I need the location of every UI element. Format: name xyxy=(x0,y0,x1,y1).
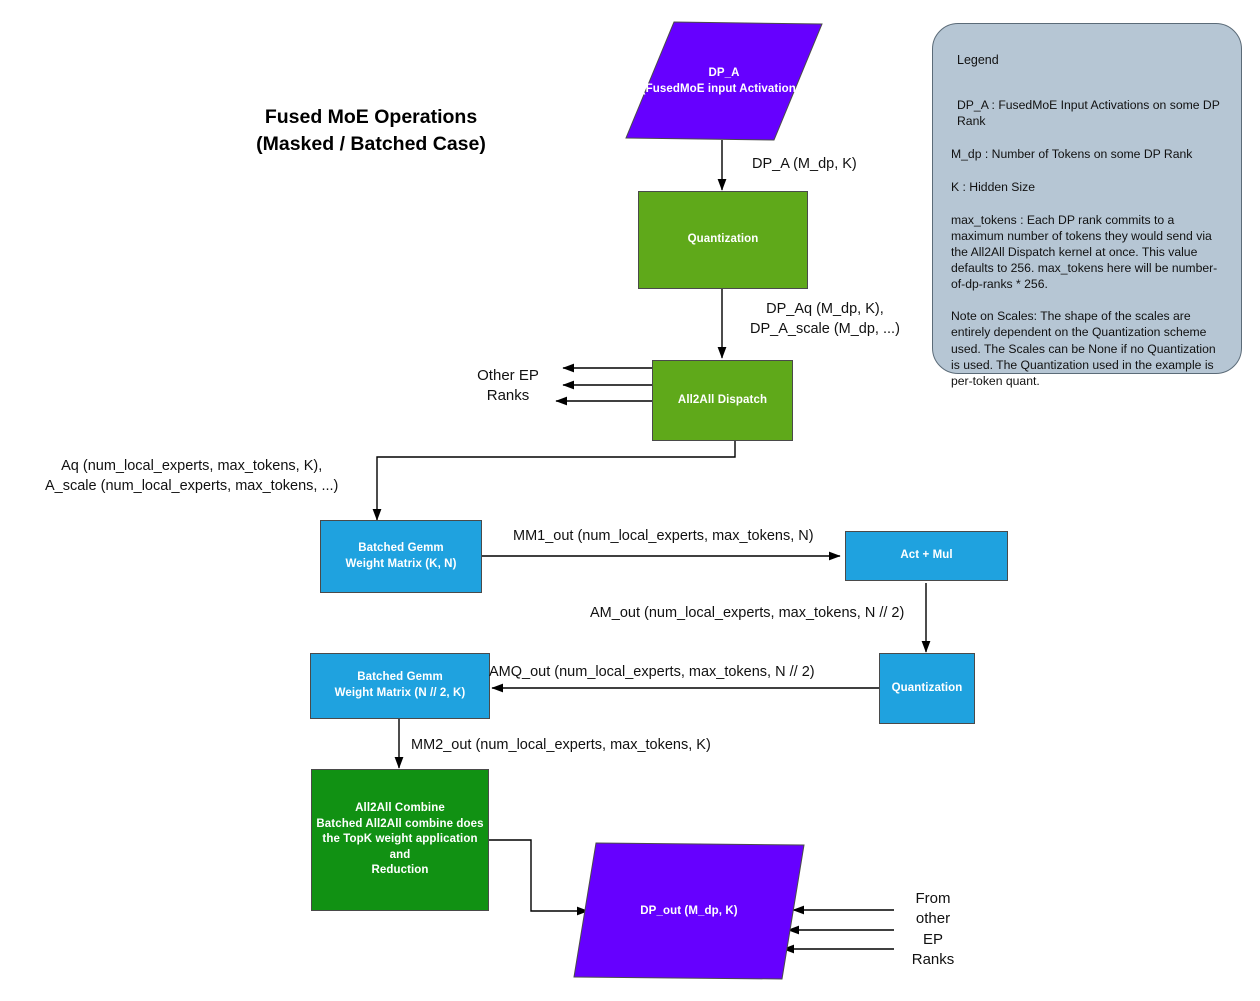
legend-panel: Legend DP_A : FusedMoE Input Activations… xyxy=(932,23,1242,374)
edge-label-dpa-to-quant: DP_A (M_dp, K) xyxy=(752,155,857,175)
edge-label-gemm2-to-combine: MM2_out (num_local_experts, max_tokens, … xyxy=(411,736,711,756)
page-title: Fused MoE Operations (Masked / Batched C… xyxy=(196,104,546,158)
node-quantization-2[interactable]: Quantization xyxy=(879,653,975,724)
legend-entry-dp-a: DP_A : FusedMoE Input Activations on som… xyxy=(957,97,1225,129)
node-dp-a[interactable]: DP_A (FusedMoE input Activations) xyxy=(626,22,822,140)
node-act-mul-label: Act + Mul xyxy=(900,548,952,564)
diagram-canvas: Fused MoE Operations (Masked / Batched C… xyxy=(0,0,1260,1001)
node-quantization-1[interactable]: Quantization xyxy=(638,191,808,289)
edge-label-quant-to-dispatch: DP_Aq (M_dp, K), DP_A_scale (M_dp, ...) xyxy=(750,300,900,339)
edge-label-actmul-to-quant2: AM_out (num_local_experts, max_tokens, N… xyxy=(590,604,904,624)
node-quantization-2-label: Quantization xyxy=(892,681,963,697)
edge-dispatch-to-gemm1 xyxy=(377,441,735,520)
edge-label-quant2-to-gemm2: AMQ_out (num_local_experts, max_tokens, … xyxy=(489,663,815,683)
node-dp-out-label: DP_out (M_dp, K) xyxy=(574,843,804,980)
node-batched-gemm-2[interactable]: Batched Gemm Weight Matrix (N // 2, K) xyxy=(310,653,490,719)
legend-entry-m-dp: M_dp : Number of Tokens on some DP Rank xyxy=(951,146,1225,162)
node-batched-gemm-1-label: Batched Gemm Weight Matrix (K, N) xyxy=(345,541,456,572)
node-dp-out[interactable]: DP_out (M_dp, K) xyxy=(574,843,804,980)
node-dp-a-label: DP_A (FusedMoE input Activations) xyxy=(626,22,822,140)
node-quantization-1-label: Quantization xyxy=(688,232,759,248)
legend-note-scales: Note on Scales: The shape of the scales … xyxy=(951,308,1225,388)
edge-label-dispatch-to-gemm1: Aq (num_local_experts, max_tokens, K), A… xyxy=(45,457,338,496)
annotation-from-other-ep-ranks: From other EP Ranks xyxy=(898,889,968,970)
legend-note-max-tokens: max_tokens : Each DP rank commits to a m… xyxy=(951,212,1225,292)
node-all2all-combine-label: All2All Combine Batched All2All combine … xyxy=(312,801,488,879)
node-act-mul[interactable]: Act + Mul xyxy=(845,531,1008,581)
legend-title: Legend xyxy=(957,52,1225,69)
annotation-other-ep-ranks: Other EP Ranks xyxy=(470,366,546,407)
node-all2all-dispatch-label: All2All Dispatch xyxy=(678,393,767,409)
legend-entry-k: K : Hidden Size xyxy=(951,179,1225,195)
node-batched-gemm-2-label: Batched Gemm Weight Matrix (N // 2, K) xyxy=(335,670,466,701)
node-all2all-combine[interactable]: All2All Combine Batched All2All combine … xyxy=(311,769,489,911)
node-all2all-dispatch[interactable]: All2All Dispatch xyxy=(652,360,793,441)
edge-label-gemm1-to-actmul: MM1_out (num_local_experts, max_tokens, … xyxy=(513,527,814,547)
node-batched-gemm-1[interactable]: Batched Gemm Weight Matrix (K, N) xyxy=(320,520,482,593)
